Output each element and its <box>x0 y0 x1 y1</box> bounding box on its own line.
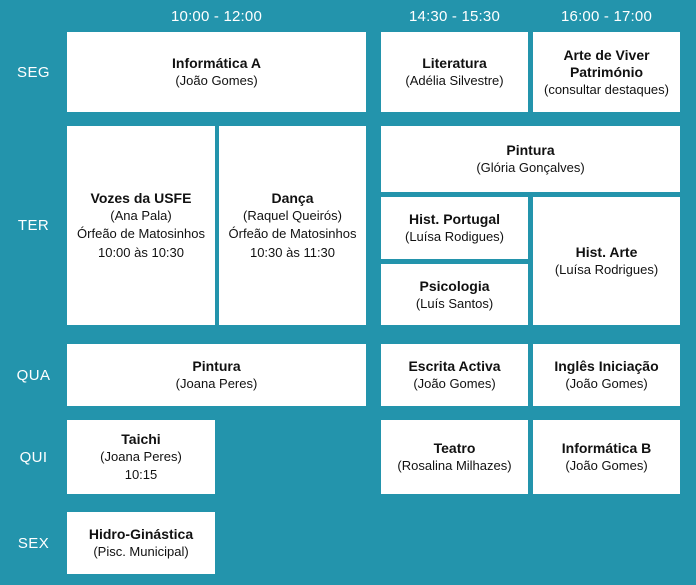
class-cell-pintura-ter[interactable]: Pintura (Glória Gonçalves) <box>381 126 680 192</box>
class-location: Órfeão de Matosinhos <box>77 224 205 243</box>
class-title: Taichi <box>121 431 160 448</box>
class-cell-hist-arte[interactable]: Hist. Arte (Luísa Rodrigues) <box>533 197 680 325</box>
class-teacher: (Rosalina Milhazes) <box>397 457 511 474</box>
class-teacher: (Luís Santos) <box>416 295 493 312</box>
class-cell-vozes-da-usfe[interactable]: Vozes da USFE (Ana Pala) Órfeão de Matos… <box>67 126 215 325</box>
class-location: Órfeão de Matosinhos <box>229 224 357 243</box>
day-label-ter: TER <box>0 126 67 325</box>
class-time: 10:30 às 11:30 <box>250 243 335 262</box>
class-cell-arte-de-viver[interactable]: Arte de Viver Património (consultar dest… <box>533 32 680 112</box>
class-cell-psicologia[interactable]: Psicologia (Luís Santos) <box>381 264 528 325</box>
class-teacher: (João Gomes) <box>413 375 495 392</box>
time-column-header-1: 10:00 - 12:00 <box>67 6 366 28</box>
class-teacher: (Joana Peres) <box>176 375 258 392</box>
class-cell-danca[interactable]: Dança (Raquel Queirós) Órfeão de Matosin… <box>219 126 366 325</box>
class-teacher: (João Gomes) <box>565 375 647 392</box>
class-teacher: (Glória Gonçalves) <box>476 159 584 176</box>
class-cell-teatro[interactable]: Teatro (Rosalina Milhazes) <box>381 420 528 494</box>
class-title: Hist. Portugal <box>409 211 500 228</box>
class-teacher: (Pisc. Municipal) <box>93 543 188 560</box>
class-time: 10:15 <box>125 465 158 484</box>
day-label-seg: SEG <box>0 32 67 112</box>
class-title: Teatro <box>434 440 476 457</box>
class-title: Literatura <box>422 55 487 72</box>
class-title: Informática A <box>172 55 261 72</box>
class-title: Escrita Activa <box>408 358 500 375</box>
class-cell-ingles-iniciacao[interactable]: Inglês Iniciação (João Gomes) <box>533 344 680 406</box>
time-column-header-2: 14:30 - 15:30 <box>381 6 528 28</box>
class-cell-literatura[interactable]: Literatura (Adélia Silvestre) <box>381 32 528 112</box>
class-title: Arte de Viver <box>563 47 649 64</box>
class-cell-hist-portugal[interactable]: Hist. Portugal (Luísa Rodigues) <box>381 197 528 259</box>
class-teacher: (Raquel Queirós) <box>243 207 342 224</box>
class-cell-pintura-qua[interactable]: Pintura (Joana Peres) <box>67 344 366 406</box>
class-title: Dança <box>271 190 313 207</box>
class-teacher: (Ana Pala) <box>110 207 171 224</box>
class-title: Vozes da USFE <box>91 190 192 207</box>
class-cell-escrita-activa[interactable]: Escrita Activa (João Gomes) <box>381 344 528 406</box>
class-title-line2: Património <box>570 64 643 81</box>
class-teacher: (Joana Peres) <box>100 448 182 465</box>
class-teacher: (Luísa Rodigues) <box>405 228 504 245</box>
class-title: Pintura <box>192 358 240 375</box>
class-teacher: (Luísa Rodrigues) <box>555 261 658 278</box>
weekly-schedule-table: 10:00 - 12:00 14:30 - 15:30 16:00 - 17:0… <box>0 0 696 585</box>
class-cell-hidro-ginastica[interactable]: Hidro-Ginástica (Pisc. Municipal) <box>67 512 215 574</box>
class-title: Psicologia <box>419 278 489 295</box>
class-title: Pintura <box>506 142 554 159</box>
class-title: Informática B <box>562 440 651 457</box>
class-teacher: (João Gomes) <box>175 72 257 89</box>
day-label-sex: SEX <box>0 512 67 574</box>
class-cell-informatica-b[interactable]: Informática B (João Gomes) <box>533 420 680 494</box>
day-label-qua: QUA <box>0 344 67 406</box>
class-cell-taichi[interactable]: Taichi (Joana Peres) 10:15 <box>67 420 215 494</box>
class-title: Inglês Iniciação <box>554 358 658 375</box>
class-cell-informatica-a[interactable]: Informática A (João Gomes) <box>67 32 366 112</box>
class-teacher: (João Gomes) <box>565 457 647 474</box>
class-teacher: (Adélia Silvestre) <box>405 72 503 89</box>
class-title: Hist. Arte <box>576 244 638 261</box>
class-teacher: (consultar destaques) <box>544 81 669 98</box>
class-title: Hidro-Ginástica <box>89 526 193 543</box>
time-column-header-3: 16:00 - 17:00 <box>533 6 680 28</box>
day-label-qui: QUI <box>0 420 67 494</box>
class-time: 10:00 às 10:30 <box>98 243 184 262</box>
